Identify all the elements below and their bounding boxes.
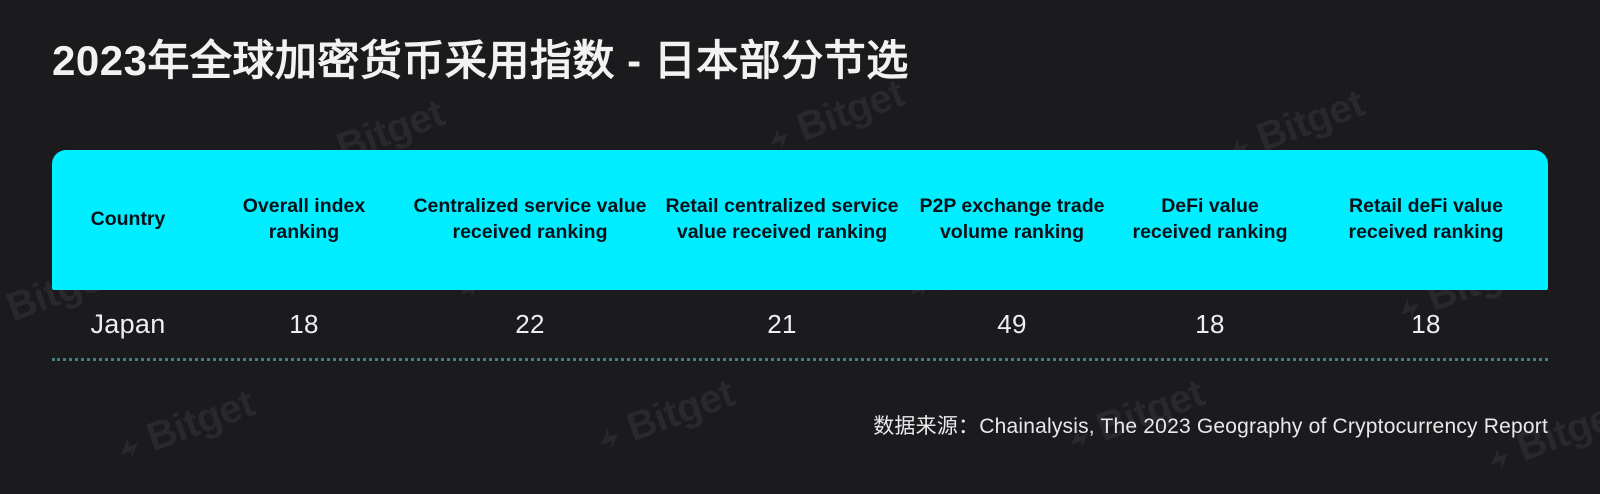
column-header-country: Country: [52, 207, 204, 233]
cell-overall-index-ranking: 18: [204, 309, 404, 340]
bitget-logo-icon: [593, 420, 626, 453]
bitget-logo-icon: [113, 430, 146, 463]
column-header-overall-index-ranking: Overall index ranking: [204, 194, 404, 245]
column-header-centralized-service-value-received-ranking: Centralized service value received ranki…: [404, 194, 656, 245]
watermark: Bitget: [590, 371, 740, 462]
bitget-logo-icon: [763, 120, 796, 153]
ranking-table: Country Overall index ranking Centralize…: [52, 150, 1548, 361]
column-header-p2p-exchange-trade-volume-ranking: P2P exchange trade volume ranking: [908, 194, 1116, 245]
watermark: Bitget: [110, 381, 260, 472]
cell-retail-defi-value-received-ranking: 18: [1304, 309, 1548, 340]
row-divider: [52, 358, 1548, 361]
infographic-page: Bitget Bitget Bitget Bitget Bitget: [0, 0, 1600, 494]
cell-retail-centralized-service-value-received-ranking: 21: [656, 309, 908, 340]
page-title: 2023年全球加密货币采用指数 - 日本部分节选: [52, 36, 909, 86]
bitget-logo-icon: [1483, 440, 1516, 473]
bitget-logo-icon: [0, 300, 7, 333]
cell-p2p-exchange-trade-volume-ranking: 49: [908, 309, 1116, 340]
column-header-retail-centralized-service-value-received-ranking: Retail centralized service value receive…: [656, 194, 908, 245]
column-header-retail-defi-value-received-ranking: Retail deFi value received ranking: [1304, 194, 1548, 245]
cell-country: Japan: [52, 309, 204, 340]
watermark-text: Bitget: [141, 381, 260, 461]
watermark-text: Bitget: [1251, 81, 1370, 161]
column-header-defi-value-received-ranking: DeFi value received ranking: [1116, 194, 1304, 245]
data-source-note: 数据来源：Chainalysis, The 2023 Geography of …: [873, 410, 1548, 440]
table-header-row: Country Overall index ranking Centralize…: [52, 150, 1548, 290]
table-row: Japan 18 22 21 49 18 18: [52, 290, 1548, 358]
cell-defi-value-received-ranking: 18: [1116, 309, 1304, 340]
watermark-text: Bitget: [621, 371, 740, 451]
cell-centralized-service-value-received-ranking: 22: [404, 309, 656, 340]
